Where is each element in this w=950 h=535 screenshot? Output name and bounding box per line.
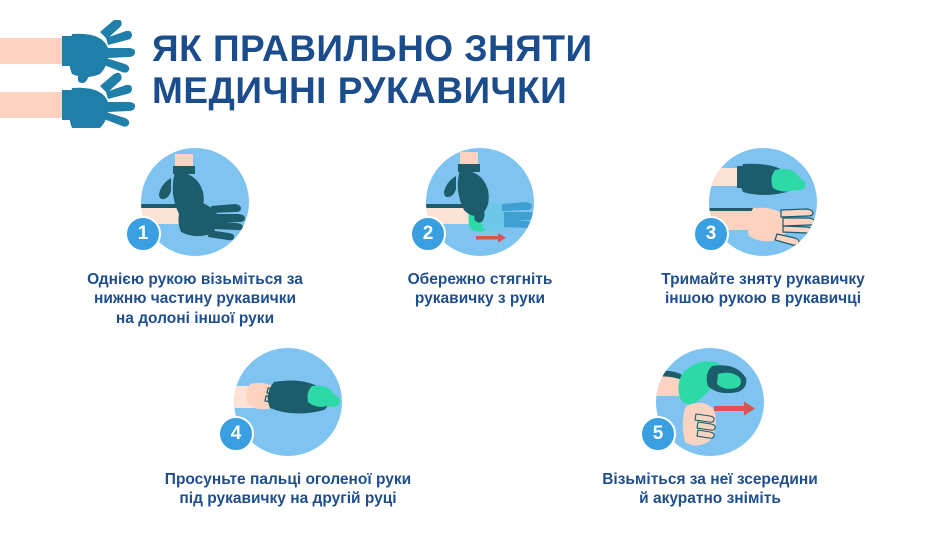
step-2-number-badge: 2 [410, 216, 446, 252]
step-3-number-badge: 3 [693, 216, 729, 252]
step-4-number-badge: 4 [218, 416, 254, 452]
step-3-caption: Тримайте зняту рукавичку іншою рукою в р… [613, 270, 913, 309]
step-5-caption: Візьміться за неї зсередини й акуратно з… [560, 470, 860, 509]
step-4-figure: 4 [138, 348, 438, 463]
title-line-1: ЯК ПРАВИЛЬНО ЗНЯТИ [152, 28, 772, 70]
two-gloved-hands-icon [0, 20, 135, 128]
step-4-caption: Просуньте пальці оголеної руки під рукав… [138, 470, 438, 509]
step-1-figure: 1 [45, 148, 345, 263]
step-2-caption: Обережно стягніть рукавичку з руки [330, 270, 630, 309]
arrow-right-icon [476, 233, 506, 243]
step-2-circle: 2 [426, 148, 534, 256]
step-5: 5 Візьміться за неї зсередини й акуратно… [560, 348, 860, 509]
step-1-circle: 1 [141, 148, 249, 256]
infographic-poster: ЯК ПРАВИЛЬНО ЗНЯТИ МЕДИЧНІ РУКАВИЧКИ [0, 0, 950, 535]
step-3-figure: 3 [613, 148, 913, 263]
step-2-figure: 2 [330, 148, 630, 263]
step-1-number-badge: 1 [125, 216, 161, 252]
step-4-circle: 4 [234, 348, 342, 456]
poster-header: ЯК ПРАВИЛЬНО ЗНЯТИ МЕДИЧНІ РУКАВИЧКИ [0, 12, 950, 132]
arrow-right-icon [714, 402, 755, 416]
step-3-circle: 3 [709, 148, 817, 256]
step-3: 3 Тримайте зняту рукавичку іншою рукою в… [613, 148, 913, 309]
page-title: ЯК ПРАВИЛЬНО ЗНЯТИ МЕДИЧНІ РУКАВИЧКИ [152, 28, 772, 112]
step-2: 2 Обережно стягніть рукавичку з руки [330, 148, 630, 309]
step-1-caption: Однією рукою візьміться за нижню частину… [45, 270, 345, 328]
step-4: 4 Просуньте пальці оголеної руки під рук… [138, 348, 438, 509]
step-1: 1 Однією рукою візьміться за нижню части… [45, 148, 345, 328]
step-5-number-badge: 5 [640, 416, 676, 452]
step-5-figure: 5 [560, 348, 860, 463]
step-5-circle: 5 [656, 348, 764, 456]
title-line-2: МЕДИЧНІ РУКАВИЧКИ [152, 70, 772, 112]
